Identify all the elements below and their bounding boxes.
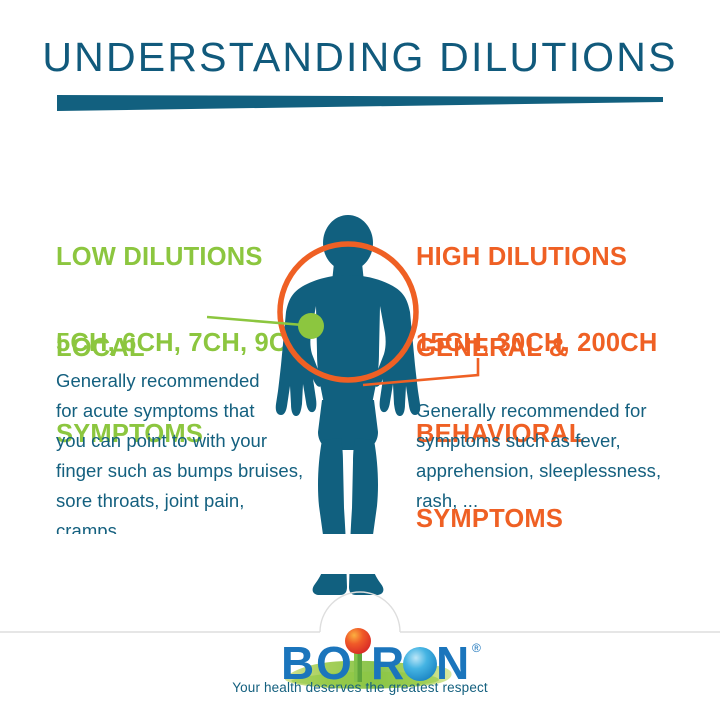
title-divider-wedge (57, 93, 663, 111)
logo-registered-mark: ® (472, 641, 481, 655)
logo-sphere-icon (403, 647, 437, 681)
general-symptoms-description: Generally recommended for symptoms such … (416, 396, 684, 516)
local-symptoms-description: Generally recommended for acute symptoms… (56, 366, 346, 546)
boiron-logo[interactable]: B O R N (0, 560, 720, 720)
local-symptoms-line-1: LOCAL (56, 334, 203, 363)
page-title: UNDERSTANDING DILUTIONS (0, 34, 720, 81)
footer-divider-rule (0, 592, 720, 632)
infographic-poster: UNDERSTANDING DILUTIONS LOW DILUTIONS 5C… (0, 0, 720, 720)
footer: B O R N (0, 560, 720, 720)
general-symptoms-line-1: GENERAL & (416, 334, 585, 363)
high-dilutions-title: HIGH DILUTIONS (416, 243, 658, 272)
low-dilutions-title: LOW DILUTIONS (56, 243, 306, 272)
footer-tagline: Your health deserves the greatest respec… (0, 680, 720, 695)
